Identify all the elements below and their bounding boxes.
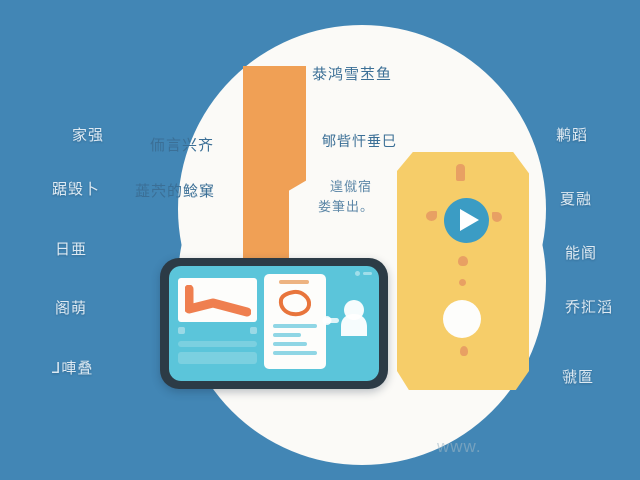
card-text-line [273, 333, 301, 337]
chart-tile[interactable] [178, 278, 257, 322]
label-right-2: 夏融 [560, 188, 592, 209]
card-text-line [273, 342, 307, 346]
user-icon [178, 327, 185, 334]
label-inner-3: 㳟鸿雪苤鱼 [312, 63, 392, 84]
label-left-5: ⅃唓叠 [52, 357, 93, 378]
tag-icon-bottom-icon [460, 346, 468, 356]
tile-text-line [178, 341, 257, 347]
tag-icon-left-icon [426, 211, 437, 221]
label-right-4: 乔㧟滔 [565, 296, 613, 317]
label-inner-2: 蕋茓的鲶窠 [135, 180, 215, 201]
tag-icon-middle-icon [458, 256, 468, 266]
label-right-5: 虢匫 [562, 366, 594, 387]
card-text-line [273, 324, 317, 328]
card-text-line [273, 351, 317, 355]
phone-screen[interactable] [169, 266, 379, 381]
tag-icon-small-icon [459, 279, 466, 286]
label-left-2: 踞毁卜 [52, 178, 100, 199]
smartphone-device[interactable] [160, 258, 388, 389]
signal-dot-icon [355, 271, 360, 276]
content-card[interactable] [264, 274, 326, 369]
send-icon [250, 327, 257, 334]
tag-icon-top-icon [456, 164, 465, 181]
label-inner-5: 遑僦宿 [330, 176, 372, 195]
label-left-4: 阁萌 [55, 297, 87, 318]
label-inner-6: 娄筆出。 [318, 196, 374, 215]
yellow-tag-card[interactable] [397, 152, 529, 390]
tile-icon-row [178, 327, 257, 334]
watermark: www. [437, 437, 482, 457]
tag-icon-right-icon [492, 212, 502, 222]
illustration-canvas: 家强 踞毁卜 日亜 阁萌 ⅃唓叠 鹣蹈 夏融 能阍 乔㧟滔 虢匫 侕言兴齐 蕋茓… [0, 0, 640, 480]
chart-arrow-icon [185, 285, 251, 317]
label-left-1: 家强 [72, 124, 104, 145]
play-button[interactable] [444, 198, 489, 243]
label-right-1: 鹣蹈 [556, 124, 588, 145]
diamond-blob-icon [277, 289, 313, 317]
battery-bar-icon [363, 272, 372, 275]
tile-text-block [178, 352, 257, 364]
label-inner-1: 侕言兴齐 [150, 134, 214, 155]
label-left-3: 日亜 [55, 238, 87, 259]
white-dot [443, 300, 481, 338]
play-icon [460, 209, 479, 231]
illustration-figure-icon [321, 296, 373, 344]
label-right-3: 能阍 [565, 242, 597, 263]
status-bar [355, 271, 372, 276]
label-inner-4: 郇㫮忓垂巳 [322, 131, 397, 151]
card-title-bar [279, 280, 309, 284]
